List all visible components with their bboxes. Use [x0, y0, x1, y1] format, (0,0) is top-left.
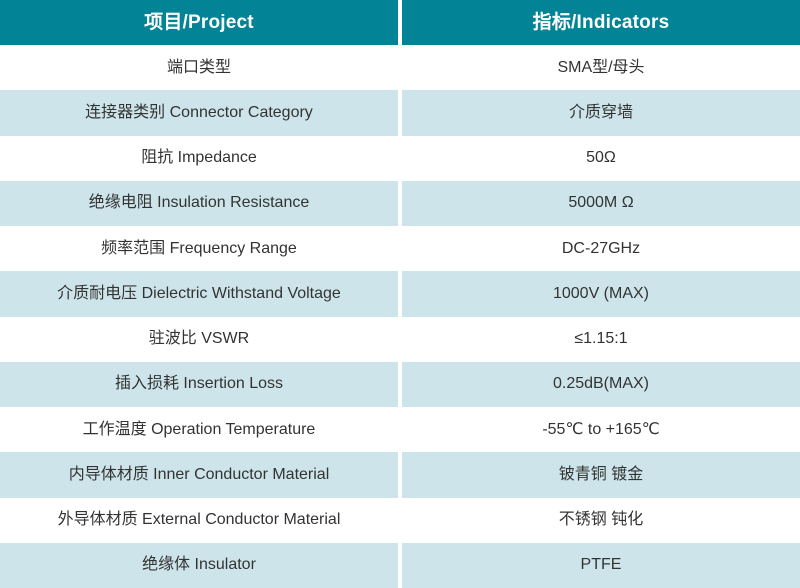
table-header-row: 项目/Project 指标/Indicators: [0, 0, 800, 45]
cell-indicator: 介质穿墙: [402, 90, 800, 135]
table-row: 绝缘电阻 Insulation Resistance 5000M Ω: [0, 181, 800, 226]
cell-project: 频率范围 Frequency Range: [0, 226, 398, 271]
table-row: 端口类型 SMA型/母头: [0, 45, 800, 90]
cell-project: 端口类型: [0, 45, 398, 90]
specification-table: 项目/Project 指标/Indicators 端口类型 SMA型/母头 连接…: [0, 0, 800, 588]
cell-project: 绝缘电阻 Insulation Resistance: [0, 181, 398, 226]
cell-project: 连接器类别 Connector Category: [0, 90, 398, 135]
cell-indicator: -55℃ to +165℃: [402, 407, 800, 452]
cell-indicator: DC-27GHz: [402, 226, 800, 271]
table-row: 连接器类别 Connector Category 介质穿墙: [0, 90, 800, 135]
table-row: 驻波比 VSWR ≤1.15:1: [0, 317, 800, 362]
cell-project: 工作温度 Operation Temperature: [0, 407, 398, 452]
cell-indicator: 不锈钢 钝化: [402, 498, 800, 543]
table-row: 介质耐电压 Dielectric Withstand Voltage 1000V…: [0, 271, 800, 316]
cell-project: 阻抗 Impedance: [0, 136, 398, 181]
cell-project: 绝缘体 Insulator: [0, 543, 398, 588]
cell-indicator: 5000M Ω: [402, 181, 800, 226]
table-row: 外导体材质 External Conductor Material 不锈钢 钝化: [0, 498, 800, 543]
table-row: 插入损耗 Insertion Loss 0.25dB(MAX): [0, 362, 800, 407]
cell-indicator: 0.25dB(MAX): [402, 362, 800, 407]
cell-project: 外导体材质 External Conductor Material: [0, 498, 398, 543]
table-row: 频率范围 Frequency Range DC-27GHz: [0, 226, 800, 271]
cell-indicator: 1000V (MAX): [402, 271, 800, 316]
table-header-indicators: 指标/Indicators: [402, 0, 800, 45]
table-row: 内导体材质 Inner Conductor Material 铍青铜 镀金: [0, 452, 800, 497]
cell-indicator: 铍青铜 镀金: [402, 452, 800, 497]
cell-project: 插入损耗 Insertion Loss: [0, 362, 398, 407]
table-row: 阻抗 Impedance 50Ω: [0, 136, 800, 181]
table-row: 绝缘体 Insulator PTFE: [0, 543, 800, 588]
cell-project: 驻波比 VSWR: [0, 317, 398, 362]
cell-indicator: ≤1.15:1: [402, 317, 800, 362]
table-header-project: 项目/Project: [0, 0, 398, 45]
cell-indicator: PTFE: [402, 543, 800, 588]
cell-project: 内导体材质 Inner Conductor Material: [0, 452, 398, 497]
table-row: 工作温度 Operation Temperature -55℃ to +165℃: [0, 407, 800, 452]
cell-indicator: SMA型/母头: [402, 45, 800, 90]
cell-indicator: 50Ω: [402, 136, 800, 181]
cell-project: 介质耐电压 Dielectric Withstand Voltage: [0, 271, 398, 316]
